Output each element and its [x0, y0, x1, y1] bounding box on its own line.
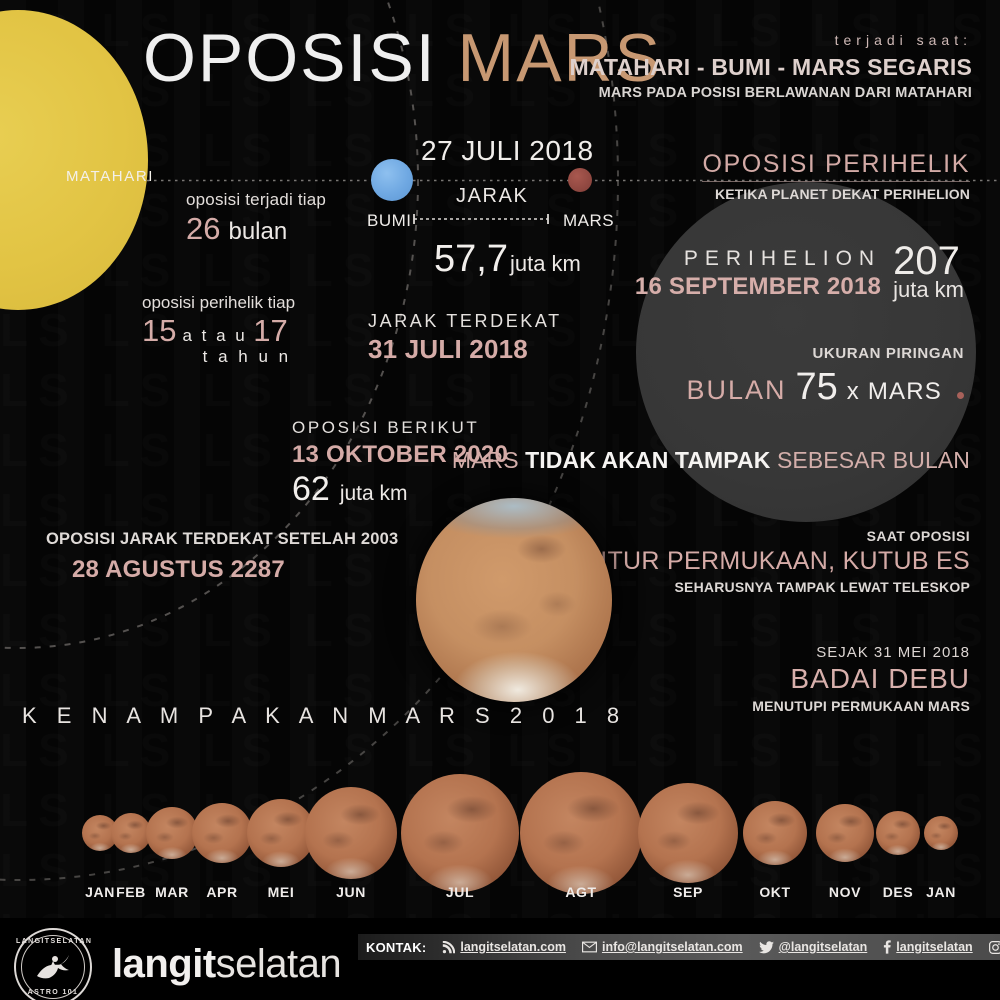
perihelic-interval-block: oposisi perihelik tiap 15 a t a u 17 t a… — [142, 293, 295, 367]
disk-size-block: UKURAN PIRINGAN BULAN 75 x MARS — [686, 345, 964, 409]
mars-disk — [401, 774, 519, 892]
horse-rider-icon — [33, 950, 73, 984]
contact-link-twitter[interactable]: @langitselatan — [759, 940, 868, 954]
month-label: JAN — [926, 884, 956, 900]
instagram-icon — [989, 941, 1000, 954]
surface-features-main: FITUR PERMUKAAN, KUTUB ES — [585, 547, 970, 576]
opposition-interval-value: 26 — [186, 211, 220, 246]
size-myth-statement: MARS TIDAK AKAN TAMPAK SEBESAR BULAN — [452, 447, 970, 474]
month-label: FEB — [116, 884, 146, 900]
month-label: MAR — [155, 884, 189, 900]
langitselatan-logo: LANGITSELATAN ASTRO 101 — [14, 928, 92, 1000]
mars-apparent-size-chart: JANFEBMARAPRMEIJUNJULAGTSEPOKTNOVDESJAN — [0, 755, 1000, 900]
alignment-statement: MATAHARI - BUMI - MARS SEGARIS — [569, 54, 972, 81]
dust-storm-title: BADAI DEBU — [752, 663, 970, 695]
mars-disk — [111, 813, 151, 853]
mars-disk — [876, 811, 920, 855]
mars-disk — [924, 816, 958, 850]
brand-light: selatan — [216, 942, 341, 986]
title-part-oposisi: OPOSISI — [143, 20, 437, 96]
surface-features-block: SAAT OPOSISI FITUR PERMUKAAN, KUTUB ES S… — [585, 528, 970, 595]
strip-title: K E N A M P A K A N M A R S 2 0 1 8 — [22, 703, 626, 729]
perihelion-distance-unit: juta km — [893, 279, 964, 301]
month-label: OKT — [759, 884, 790, 900]
sun-label: MATAHARI — [40, 168, 180, 185]
mars-disk — [520, 772, 642, 894]
next-opposition-distance-unit: juta km — [340, 482, 408, 506]
mars-disk — [146, 807, 198, 859]
alignment-subtext: MARS PADA POSISI BERLAWANAN DARI MATAHAR… — [569, 85, 972, 101]
month-label: JUN — [336, 884, 366, 900]
closest-approach-date: 31 JULI 2018 — [368, 334, 562, 365]
statement-post: SEBESAR BULAN — [770, 447, 970, 473]
sun-disk — [0, 10, 148, 310]
month-label: APR — [206, 884, 237, 900]
disk-size-caption: UKURAN PIRINGAN — [686, 345, 964, 362]
record-opposition-date: 28 AGUSTUS 2287 — [72, 556, 398, 584]
perihelic-interval-conj: a t a u — [182, 326, 247, 346]
contact-website-text: langitselatan.com — [460, 940, 566, 954]
contact-twitter-text: @langitselatan — [779, 940, 868, 954]
mars-disk — [638, 783, 738, 883]
perihelic-interval-value1: 15 — [142, 313, 176, 349]
distance-measure-bar — [414, 214, 548, 224]
contact-link-website[interactable]: langitselatan.com — [442, 940, 566, 954]
perihelion-distance-value: 207 — [893, 243, 960, 279]
size-factor-value: 75 — [796, 366, 838, 409]
month-label: JUL — [446, 884, 474, 900]
perihelion-block: PERIHELION 16 SEPTEMBER 2018 207 juta km — [635, 243, 964, 301]
closest-approach-block: JARAK TERDEKAT 31 JULI 2018 — [368, 311, 562, 365]
opposition-definition-block: terjadi saat: MATAHARI - BUMI - MARS SEG… — [569, 32, 972, 101]
next-opposition-date: 13 OKTOBER 2020 — [292, 441, 508, 469]
month-label: DES — [883, 884, 914, 900]
dust-storm-since: SEJAK 31 MEI 2018 — [752, 644, 970, 661]
perihelic-interval-value2: 17 — [253, 313, 287, 349]
month-label: MEI — [268, 884, 295, 900]
statement-emphasis: TIDAK AKAN TAMPAK — [525, 447, 770, 473]
contact-facebook-text: langitselatan — [896, 940, 972, 954]
earth-planet-dot — [371, 159, 413, 201]
contact-link-email[interactable]: info@langitselatan.com — [582, 940, 743, 954]
mars-disk — [305, 787, 397, 879]
mars-disk — [743, 801, 807, 865]
distance-label: JARAK — [456, 185, 528, 208]
perihelic-subtext: KETIKA PLANET DEKAT PERIHELION — [702, 186, 970, 202]
opposition-interval-unit: bulan — [228, 218, 287, 245]
contact-link-facebook[interactable]: langitselatan — [883, 940, 972, 954]
moon-label: BULAN — [686, 375, 786, 406]
next-opposition-distance-value: 62 — [292, 470, 330, 509]
perihelic-opposition-block: OPOSISI PERIHELIK KETIKA PLANET DEKAT PE… — [702, 150, 970, 202]
terjadi-saat-label: terjadi saat: — [569, 32, 972, 48]
logo-bottom-text: ASTRO 101 — [16, 989, 90, 996]
dust-storm-block: SEJAK 31 MEI 2018 BADAI DEBU MENUTUPI PE… — [752, 644, 970, 714]
record-opposition-block: OPOSISI JARAK TERDEKAT SETELAH 2003 28 A… — [46, 530, 398, 584]
email-icon — [582, 941, 597, 953]
month-label: JAN — [85, 884, 115, 900]
next-opposition-block: OPOSISI BERIKUT 13 OKTOBER 2020 62 juta … — [292, 418, 508, 509]
infographic-poster: LS LS LS LS LS LS LS LS LS LS LS LS LS L… — [0, 0, 1000, 1000]
mars-photo-disk — [416, 498, 612, 702]
month-label: SEP — [673, 884, 703, 900]
twitter-icon — [759, 941, 774, 954]
next-opposition-caption: OPOSISI BERIKUT — [292, 418, 508, 438]
contact-bar: KONTAK: langitselatan.com info@langitsel… — [358, 934, 1000, 960]
mars-planet-dot — [568, 168, 592, 192]
surface-features-caption: SAAT OPOSISI — [585, 528, 970, 544]
month-label: AGT — [565, 884, 596, 900]
contact-link-instagram[interactable]: langitselatanmedia — [989, 940, 1000, 954]
opposition-distance: 57,7 juta km — [434, 238, 581, 281]
times-mars-label: x MARS — [847, 378, 942, 406]
kontak-label: KONTAK: — [366, 940, 426, 955]
dust-storm-subtext: MENUTUPI PERMUKAAN MARS — [752, 698, 970, 714]
rss-icon — [442, 941, 455, 954]
facebook-icon — [883, 940, 891, 954]
record-opposition-caption: OPOSISI JARAK TERDEKAT SETELAH 2003 — [46, 530, 398, 549]
opposition-interval-block: oposisi terjadi tiap 26bulan — [186, 190, 326, 247]
mars-dot-icon — [957, 392, 964, 399]
opposition-distance-value: 57,7 — [434, 238, 508, 281]
perihelion-label: PERIHELION — [635, 247, 881, 271]
opposition-distance-unit: juta km — [510, 251, 581, 277]
opposition-date: 27 JULI 2018 — [421, 135, 594, 167]
perihelion-date: 16 SEPTEMBER 2018 — [635, 273, 881, 301]
mars-disk — [816, 804, 874, 862]
perihelic-interval-unit: t a h u n — [142, 347, 295, 367]
surface-features-subtext: SEHARUSNYA TAMPAK LEWAT TELESKOP — [585, 579, 970, 595]
brand-wordmark: langitselatan — [112, 944, 341, 984]
brand-bold: langit — [112, 942, 216, 986]
closest-approach-caption: JARAK TERDEKAT — [368, 311, 562, 332]
month-label: NOV — [829, 884, 861, 900]
earth-label: BUMI — [367, 211, 412, 231]
mars-disk — [192, 803, 252, 863]
contact-email-text: info@langitselatan.com — [602, 940, 743, 954]
perihelic-heading: OPOSISI PERIHELIK — [702, 150, 970, 182]
logo-top-text: LANGITSELATAN — [16, 938, 90, 945]
opposition-interval-caption: oposisi terjadi tiap — [186, 190, 326, 210]
mars-label: MARS — [563, 211, 614, 231]
perihelic-interval-caption: oposisi perihelik tiap — [142, 293, 295, 313]
